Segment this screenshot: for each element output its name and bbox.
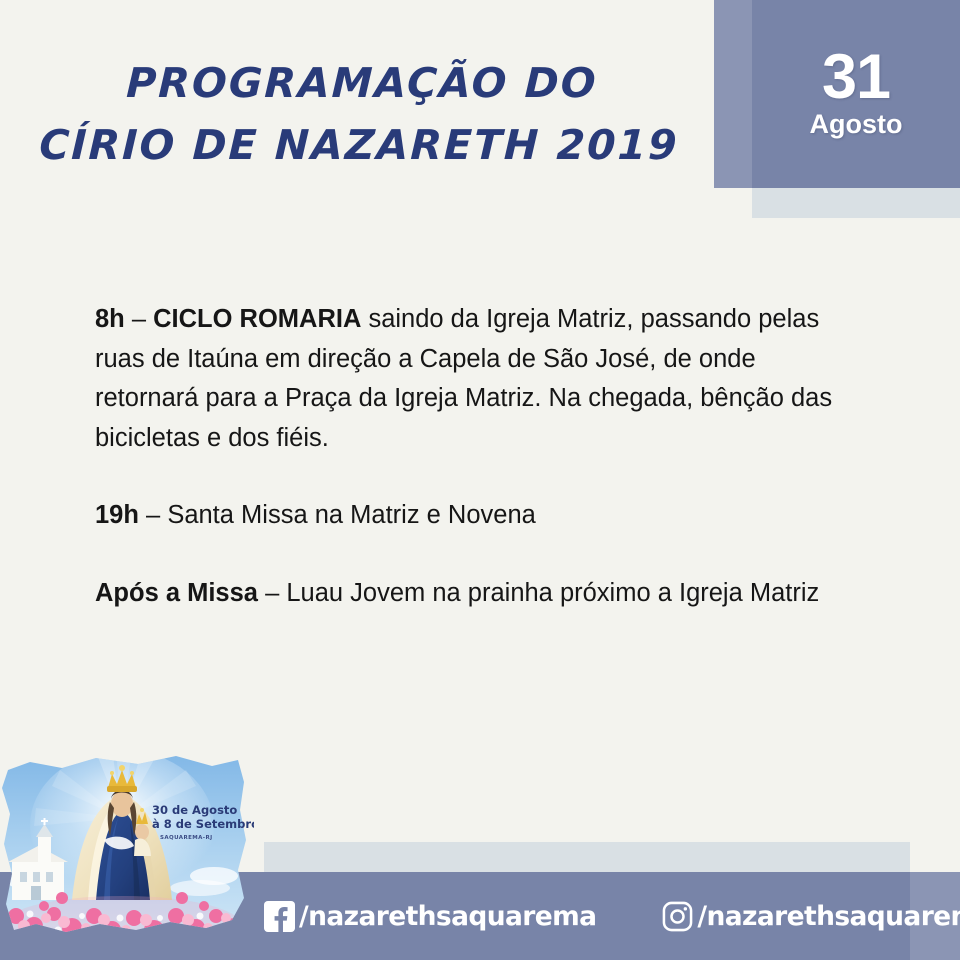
social-links: /nazarethsaquarema /nazarethsaquarema <box>264 872 910 960</box>
schedule-item-time: 8h <box>95 305 125 333</box>
date-month: Agosto <box>810 110 903 140</box>
schedule-item: Após a Missa – Luau Jovem na prainha pró… <box>95 574 855 614</box>
date-day: 31 <box>822 48 890 108</box>
artwork-caption-line-3: SAQUAREMA-RJ <box>160 835 213 841</box>
schedule-list: 8h – CICLO ROMARIA saindo da Igreja Matr… <box>95 300 855 613</box>
schedule-item-dash: – <box>258 579 286 607</box>
footer-pale-strip <box>264 842 910 872</box>
instagram-handle: /nazarethsaquarema <box>697 901 960 932</box>
poster-canvas: 31 Agosto PROGRAMAÇÃO DO CÍRIO DE NAZARE… <box>0 0 960 960</box>
social-link-facebook[interactable]: /nazarethsaquarema <box>264 901 596 932</box>
facebook-icon <box>264 901 295 932</box>
schedule-item-dash: – <box>125 305 153 333</box>
nossa-senhora-artwork: 30 de Agosto à 8 de Setembro SAQUAREMA-R… <box>0 748 254 956</box>
date-badge-pale-strip <box>752 188 960 218</box>
schedule-item: 8h – CICLO ROMARIA saindo da Igreja Matr… <box>95 300 855 458</box>
date-badge-accent-strip <box>714 0 754 188</box>
schedule-item-time: 19h <box>95 501 139 529</box>
date-badge: 31 Agosto <box>752 0 960 188</box>
artwork-caption-line-2: à 8 de Setembro <box>152 817 254 831</box>
schedule-item-dash: – <box>139 501 167 529</box>
artwork-illustration: 30 de Agosto à 8 de Setembro SAQUAREMA-R… <box>0 748 254 956</box>
schedule-item-time: Após a Missa <box>95 579 258 607</box>
schedule-item-highlight: CICLO ROMARIA <box>153 305 361 333</box>
page-title-line-1: PROGRAMAÇÃO DO <box>0 52 715 114</box>
page-title: PROGRAMAÇÃO DO CÍRIO DE NAZARETH 2019 <box>0 52 714 176</box>
schedule-item-text: Luau Jovem na prainha próximo a Igreja M… <box>286 579 819 607</box>
schedule-item-text: Santa Missa na Matriz e Novena <box>167 501 536 529</box>
facebook-handle: /nazarethsaquarema <box>299 901 596 932</box>
page-title-line-2: CÍRIO DE NAZARETH 2019 <box>0 114 715 176</box>
social-link-instagram[interactable]: /nazarethsaquarema <box>662 901 960 932</box>
artwork-sky <box>0 748 254 956</box>
instagram-icon <box>662 901 693 932</box>
schedule-item: 19h – Santa Missa na Matriz e Novena <box>95 496 855 536</box>
artwork-caption-line-1: 30 de Agosto <box>152 803 237 817</box>
